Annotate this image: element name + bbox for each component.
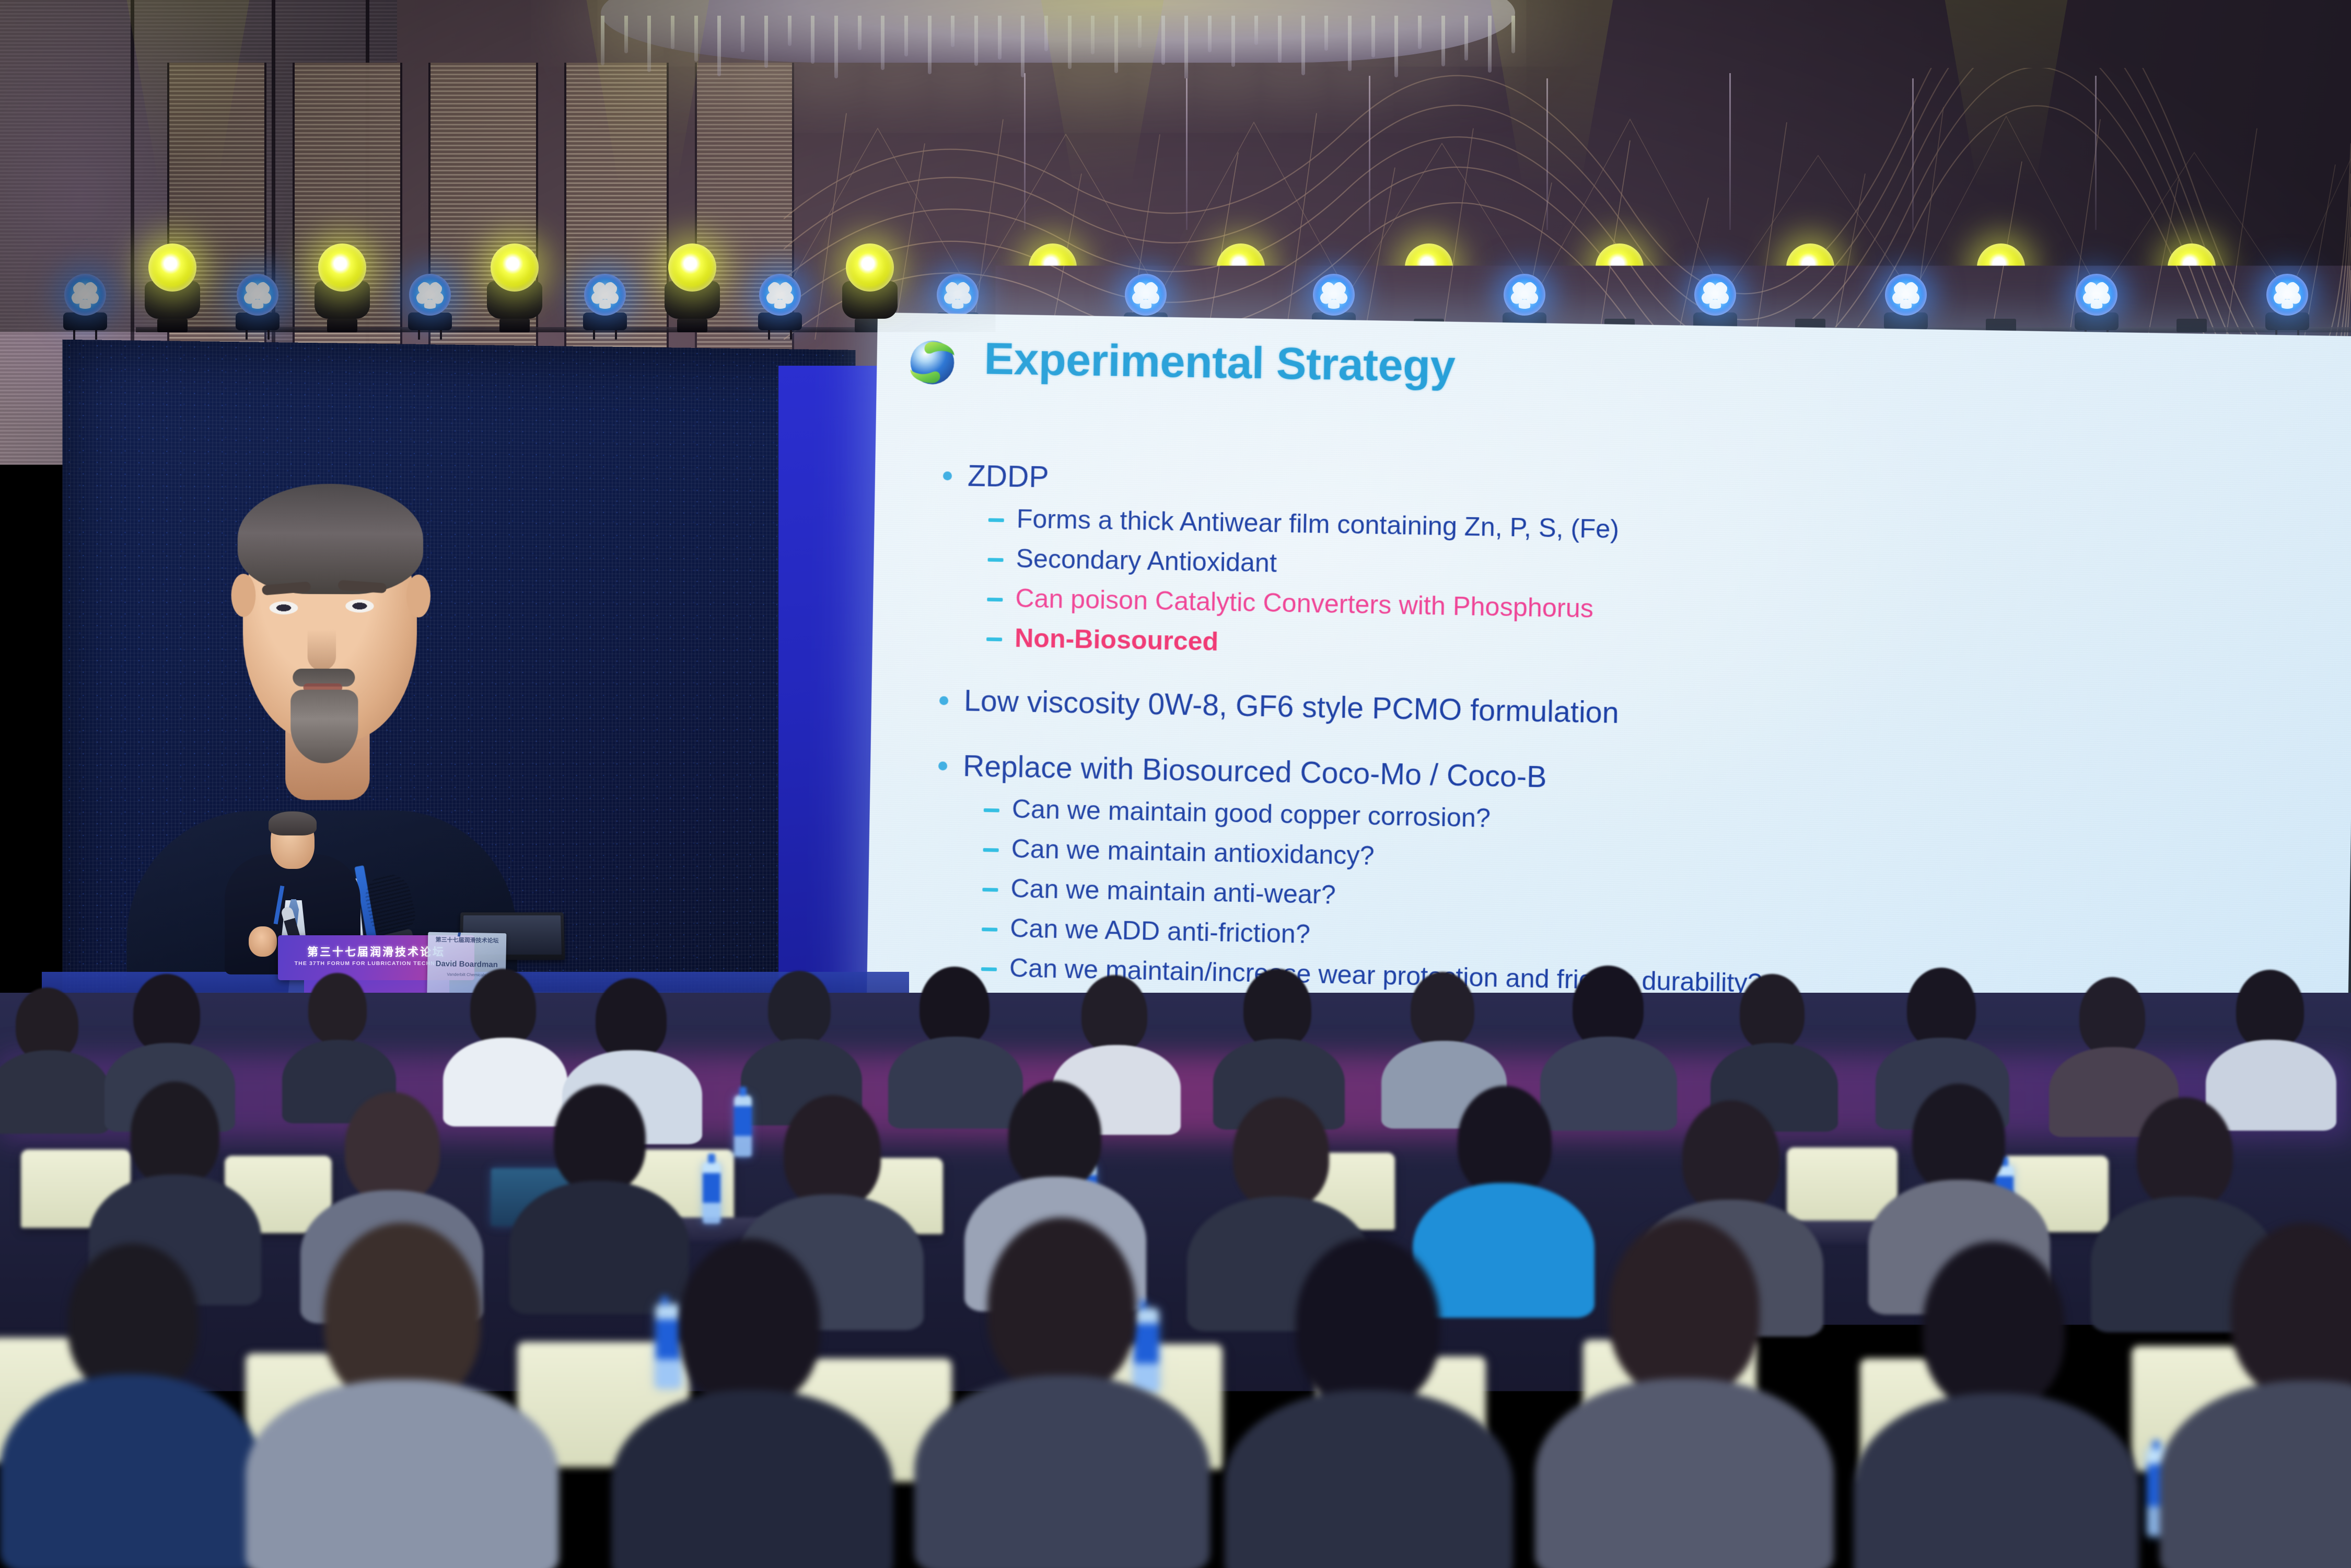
- par-light-blue: [758, 274, 802, 340]
- bullet-text: Can we maintain good copper corrosion?: [1011, 792, 1491, 835]
- moving-head-light-yellow: [144, 243, 201, 332]
- bullet-dash-icon: [982, 888, 998, 892]
- moving-head-light-yellow: [313, 243, 371, 332]
- moving-head-light-yellow: [486, 243, 543, 332]
- moving-head-light-yellow: [1591, 243, 1648, 332]
- bullet-text: Can we ADD anti-friction?: [1010, 911, 1311, 951]
- hanging-rod: [1186, 78, 1188, 230]
- par-light-blue: [2074, 274, 2119, 340]
- ltf-brand-text: LTF: [304, 1092, 449, 1120]
- bullet-text: Can we maintain/increase wear protection…: [1009, 951, 1763, 1000]
- bullet-dash-icon: [981, 967, 997, 971]
- water-bottle: [1134, 1308, 1159, 1392]
- moving-head-light-yellow: [1782, 243, 1839, 332]
- vanderbilt-v-icon: [1970, 1172, 2009, 1212]
- presenter-name-badge: 第三十七届润滑技术论坛 David Boardman Vanderbilt Ch…: [427, 932, 507, 1015]
- bullet-text: ZDDP: [968, 458, 1050, 496]
- water-bottle: [1957, 1315, 1982, 1398]
- slide-footer-company-bar: Vanderbilt Chemicals A Vanderbilt Holdin…: [1518, 1148, 2346, 1233]
- bullet-dot-icon: [943, 471, 952, 480]
- water-bottle: [703, 1162, 720, 1224]
- fire-extinguisher: [26, 731, 40, 754]
- badge-name: David Boardman: [427, 959, 506, 970]
- hanging-rod: [2095, 76, 2097, 230]
- projected-presentation-slide: Experimental Strategy ZDDP Forms a thick…: [864, 312, 2351, 1233]
- bullet-text: Can poison Catalytic Converters with Pho…: [1015, 581, 1594, 625]
- bullet-dash-icon: [984, 808, 999, 812]
- moving-head-light-yellow: [1400, 243, 1458, 332]
- bullet-dash-icon: [986, 637, 1002, 641]
- bullet-text: Replace with Biosourced Coco-Mo / Coco-B: [963, 748, 1547, 796]
- company-name: Vanderbilt Chemicals: [2022, 1176, 2308, 1215]
- chandelier-crystals: [601, 16, 1515, 78]
- par-light-blue: [408, 274, 452, 340]
- hanging-rod: [1912, 78, 1914, 230]
- bullet-dash-icon: [987, 597, 1003, 601]
- bullet-dash-icon: [988, 557, 1004, 562]
- slide-footer-forum-bar: 中国润滑技术论坛 Forum for Lubricant Technology: [864, 1134, 1520, 1215]
- water-bottle: [656, 1304, 681, 1388]
- stage-front-panel: [52, 1008, 899, 1129]
- hanging-rod: [1024, 73, 1026, 230]
- bullet-dash-icon: [983, 848, 999, 852]
- bullet-text: Secondary Antioxidant: [1016, 541, 1277, 579]
- slide-body-content: ZDDP Forms a thick Antiwear film contain…: [935, 444, 2335, 1012]
- water-bottle: [2147, 1448, 2173, 1536]
- ltf-globe-logo: [902, 332, 963, 393]
- moving-head-light-yellow: [2163, 243, 2220, 332]
- bullet-dot-icon: [939, 696, 948, 705]
- bullet-dash-icon: [988, 518, 1004, 522]
- hanging-rod: [1729, 73, 1731, 230]
- bullet-dot-icon: [938, 761, 947, 770]
- ltf-globe-logo: [353, 1042, 401, 1090]
- par-light-blue: [2265, 274, 2310, 340]
- badge-org: Vanderbilt Chemicals: [427, 972, 506, 978]
- slide-title: Experimental Strategy: [984, 333, 1456, 392]
- hanging-rod: [1546, 78, 1548, 230]
- bullet-text: Forms a thick Antiwear film containing Z…: [1016, 502, 1619, 545]
- bullet-text: Can we maintain anti-wear?: [1010, 872, 1336, 912]
- par-light-blue: [63, 274, 108, 340]
- moving-head-light-yellow: [1972, 243, 2030, 332]
- par-light-blue: [583, 274, 627, 340]
- bullet-text: Non-Biosourced: [1015, 621, 1219, 658]
- conference-hall-scene: 第三 THE 3: [0, 0, 2351, 1568]
- audience-laptop: [491, 1168, 580, 1226]
- hanging-rod: [1369, 76, 1370, 233]
- par-light-blue: [235, 274, 280, 340]
- bullet-text: Can we maintain antioxidancy?: [1011, 832, 1375, 873]
- badge-header: 第三十七届润滑技术论坛: [428, 935, 506, 945]
- moving-head-light-yellow: [664, 243, 721, 332]
- bullet-dash-icon: [982, 927, 997, 932]
